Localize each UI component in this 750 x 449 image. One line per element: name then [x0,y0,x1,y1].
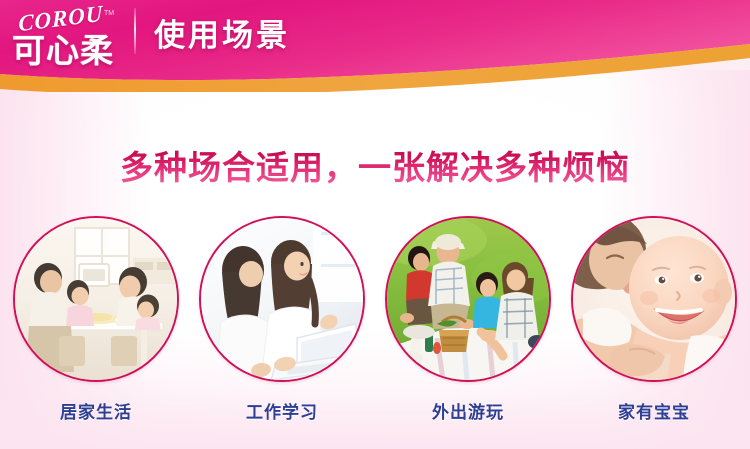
headline: 多种场合适用，一张解决多种烦恼 [0,141,750,189]
scene-item-work-study[interactable]: 工作学习 [196,216,368,423]
scene-item-baby[interactable]: 家有宝宝 [568,216,740,423]
scene-caption: 工作学习 [246,398,318,423]
scene-photo-frame [13,216,179,382]
scene-list: 居家生活 [0,216,750,423]
office-laptop-photo [201,218,363,380]
scene-photo-frame [385,216,551,382]
page-header: COROU TM 可心柔 使用场景 [0,0,750,92]
headline-text: 多种场合适用，一张解决多种烦恼 [120,141,630,189]
scene-caption: 居家生活 [60,398,132,423]
promo-banner: COROU TM 可心柔 使用场景 多种场合适用，一张解决多种烦恼 [0,0,750,449]
family-dining-photo [15,218,177,380]
header-wave-graphic [0,0,750,92]
scene-item-home-life[interactable]: 居家生活 [10,216,182,423]
outdoor-picnic-photo [387,218,549,380]
scene-photo-frame [199,216,365,382]
scene-caption: 外出游玩 [432,398,504,423]
scene-photo-frame [571,216,737,382]
mother-baby-photo [573,218,735,380]
scene-caption: 家有宝宝 [618,398,690,423]
scene-item-outdoor[interactable]: 外出游玩 [382,216,554,423]
